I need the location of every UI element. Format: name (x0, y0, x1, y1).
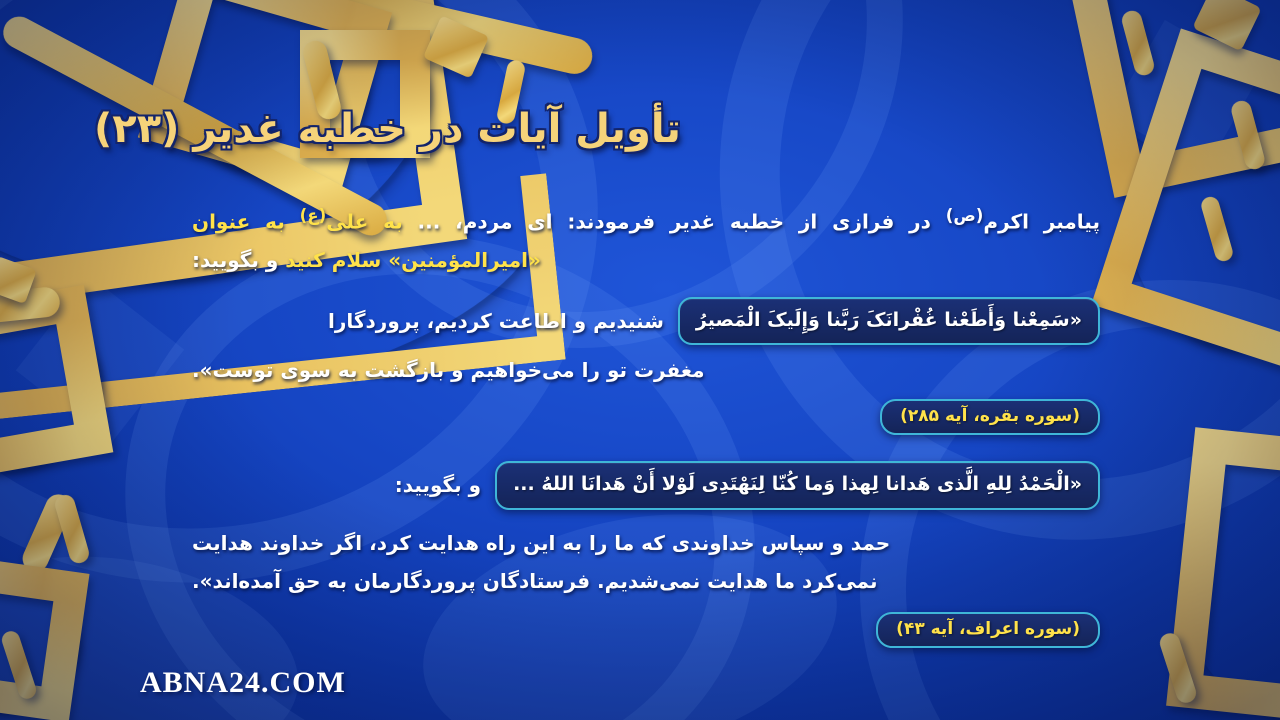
verse-row-araf: «الْحَمْدُ لِلهِ الَّذی هَدانا لِهذا وَم… (192, 461, 1100, 510)
translation-baqarah-line2: مغفرت تو را می‌خواهیم و بازگشت به سوی تو… (192, 351, 1100, 389)
gold-calligraphy-stroke-1 (0, 0, 596, 78)
gold-calligraphy-dot-1 (423, 15, 489, 78)
intro-honorific-ali: (ع) (300, 206, 327, 225)
intro-text-a: پیامبر اکرم (983, 210, 1100, 234)
gold-calligraphy-loop-1 (138, 0, 392, 195)
citation-row-araf: (سوره اعراف، آیه ۴۳) (192, 612, 1100, 648)
intro-highlight-amiralmomenin: «امیرالمؤمنین» سلام کنید (285, 248, 541, 272)
intro-paragraph: پیامبر اکرم(ص) در فرازی از خطبه غدیر فرم… (192, 200, 1100, 279)
arabic-quote-box-baqarah: «سَمِعْنا وَأَطَعْنا غُفْرانَکَ رَبَّنا … (678, 297, 1100, 346)
arabic-quote-text-baqarah: «سَمِعْنا وَأَطَعْنا غُفْرانَکَ رَبَّنا … (696, 309, 1082, 331)
intro-highlight-ali: به علی (326, 210, 403, 234)
intro-highlight-asname: به عنوان (192, 210, 300, 234)
translation-araf-line1: حمد و سپاس خداوندی که ما را به این راه ه… (192, 524, 1100, 562)
translation-araf-line2: نمی‌کرد ما هدایت نمی‌شدیم. فرستادگان پرو… (192, 562, 1100, 600)
arabic-quote-text-araf: «الْحَمْدُ لِلهِ الَّذی هَدانا لِهذا وَم… (513, 473, 1082, 495)
page-title: تأویل آیات در خطبه غدیر (۲۳) (94, 104, 681, 154)
translation-baqarah-line1: شنیدیم و اطاعت کردیم، پروردگارا (192, 302, 664, 340)
gold-calligraphy-right-hook2 (1229, 99, 1266, 172)
citation-badge-baqarah: (سوره بقره، آیه ۲۸۵) (880, 399, 1100, 435)
poster-canvas: تأویل آیات در خطبه غدیر (۲۳) پیامبر اکرم… (0, 0, 1280, 720)
citation-text-araf: (سوره اعراف، آیه ۴۳) (896, 619, 1080, 639)
verse-section-araf: «الْحَمْدُ لِلهِ الَّذی هَدانا لِهذا وَم… (192, 461, 1100, 648)
lead-label-araf: و بگویید: (395, 473, 481, 497)
verse-section-baqarah: «سَمِعْنا وَأَطَعْنا غُفْرانَکَ رَبَّنا … (192, 297, 1100, 436)
gold-calligraphy-right-dot (1192, 0, 1262, 51)
citation-text-baqarah: (سوره بقره، آیه ۲۸۵) (900, 406, 1080, 426)
intro-text-b: در فرازی از خطبه غدیر فرمودند: ای مردم، … (403, 210, 946, 234)
gold-calligraphy-right-ring (1052, 0, 1280, 198)
citation-row-baqarah: (سوره بقره، آیه ۲۸۵) (192, 399, 1100, 435)
arabic-quote-box-araf: «الْحَمْدُ لِلهِ الَّذی هَدانا لِهذا وَم… (495, 461, 1100, 510)
page-title-container: تأویل آیات در خطبه غدیر (۲۳) (94, 104, 1184, 154)
citation-badge-araf: (سوره اعراف، آیه ۴۳) (876, 612, 1100, 648)
verse-row-baqarah: «سَمِعْنا وَأَطَعْنا غُفْرانَکَ رَبَّنا … (192, 297, 1100, 346)
gold-calligraphy-right-hook (1120, 9, 1156, 78)
intro-honorific-prophet: (ص) (946, 206, 984, 225)
site-watermark: ABNA24.COM (140, 666, 346, 700)
content-area: پیامبر اکرم(ص) در فرازی از خطبه غدیر فرم… (0, 200, 1280, 648)
intro-text-c: و بگویید: (192, 248, 285, 272)
